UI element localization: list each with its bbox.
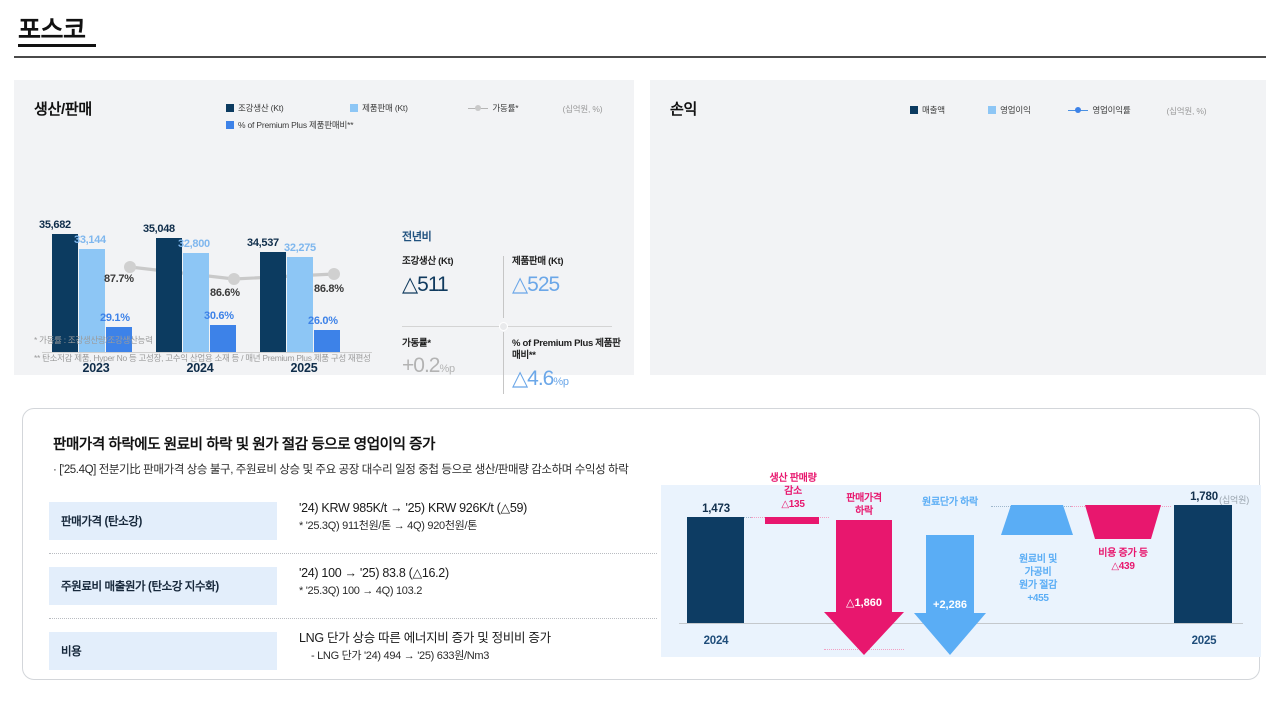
bottom-heading: 판매가격 하락에도 원료비 하락 및 원가 절감 등으로 영업이익 증가 [53,433,435,454]
profit-unit-note: (십억원, %) [1167,106,1207,116]
row-divider [49,618,657,619]
waterfall-caption-expense: 비용 증가 등 △439 [1077,547,1169,573]
production-unit-note: (십억원, %) [563,104,603,114]
production-footnote-2: ** 탄소저감 제품, Hyper No 등 고성장, 고수익 산업용 소재 등… [34,352,371,364]
bar-crude-steel-2024 [156,238,182,352]
operating-profit-waterfall-chart: (십억원) 1,473 2024 생산 판매량 감소 △135 판매가격 하락 … [661,485,1261,657]
row-main-text: LNG 단가 상승 따른 에너지비 증가 및 정비비 증가 [299,629,657,648]
row-divider [49,553,657,554]
caption-line: 판매가격 [821,492,907,505]
page-title: 포스코 [18,10,86,46]
stats-vertical-divider-top [503,256,504,318]
stat-premium-plus: % of Premium Plus 제품판매비** △4.6%p [512,338,624,391]
legend-item-utilization: 가동률* [468,102,560,114]
stat-product-sales: 제품판매 (Kt) △525 [512,256,612,297]
legend-item-operating-margin: 영업이익률 [1068,104,1164,116]
utilization-label-2023: 87.7% [104,273,134,285]
waterfall-down-arrow-price [824,520,904,655]
utilization-label-2024: 86.6% [210,287,240,299]
stat-value: △511 [402,272,502,297]
caption-line: 원료단가 하락 [897,496,1003,509]
legend-label: 조강생산 (Kt) [238,102,284,114]
bar-label-premium-plus-2025: 26.0% [308,315,338,327]
stat-label: 조강생산 (Kt) [402,256,502,268]
bar-label-product-sales-2024: 32,800 [178,238,210,250]
caption-value: +455 [999,592,1077,605]
waterfall-up-arrow-raw-material [914,535,986,655]
bottom-bullet-text: · ['25.4Q] 전분기比 판매가격 상승 불구, 주원료비 상승 및 주요… [53,461,628,477]
caption-line: 가공비 [999,566,1077,579]
profit-panel-title: 손익 [670,98,697,119]
bar-label-product-sales-2023: 33,144 [74,234,106,246]
stat-value-suffix: %p [553,376,568,388]
legend-item-product-sales: 제품판매 (Kt) [350,102,466,114]
legend-item-premium-plus: % of Premium Plus 제품판매비** [226,119,353,131]
bar-product-sales-2025 [287,257,313,352]
stats-vertical-divider-bottom [503,332,504,394]
waterfall-total-label-2025: 1,780 [1165,491,1243,503]
production-yoy-heading: 전년비 [402,228,622,244]
stat-value-suffix: %p [439,363,454,375]
legend-swatch-medium-blue-icon [226,121,234,129]
waterfall-bar-2025 [1174,505,1232,623]
bar-label-product-sales-2025: 32,275 [284,242,316,254]
stat-value-number: +0.2 [402,354,439,377]
bottom-detail-table: 판매가격 (탄소강) '24) KRW 985K/t → '25) KRW 92… [49,493,657,679]
bar-label-crude-steel-2023: 35,682 [39,219,71,231]
row-sub-text: - LNG 단가 '24) 494 → '25) 633원/Nm3 [311,648,657,665]
profit-legend: 매출액 영업이익 영업이익률 (십억원, %) [910,104,1206,117]
production-sales-panel: 생산/판매 조강생산 (Kt) 제품판매 (Kt) 가동률* (십억원, %) … [14,80,634,375]
stat-value-number: △4.6 [512,367,553,390]
production-panel-title: 생산/판매 [34,98,92,119]
row-sub-text: * '25.3Q) 911천원/톤 → 4Q) 920천원/톤 [299,518,657,535]
stat-crude-steel: 조강생산 (Kt) △511 [402,256,502,297]
legend-label: 제품판매 (Kt) [362,102,408,114]
legend-line-marker-blue-icon [1068,106,1088,114]
bar-premium-plus-2025 [314,330,340,352]
legend-label: 영업이익률 [1092,104,1130,116]
caption-line: 비용 증가 등 [1077,547,1169,560]
stat-label: 가동률* [402,338,502,350]
stat-utilization: 가동률* +0.2%p [402,338,502,378]
production-yoy-stats: 전년비 조강생산 (Kt) △511 제품판매 (Kt) △525 가동률* +… [402,228,622,386]
title-underline [18,44,96,47]
row-label-expenses: 비용 [49,632,277,670]
row-sub-text: * '25.3Q) 100 → 4Q) 103.2 [299,583,657,600]
legend-swatch-light-blue-icon [988,106,996,114]
stat-label: % of Premium Plus 제품판매비** [512,338,624,362]
bar-crude-steel-2025 [260,252,286,352]
legend-label: 매출액 [922,104,945,116]
caption-line: 하락 [821,505,907,518]
row-body: '24) KRW 985K/t → '25) KRW 926K/t (△59) … [299,493,657,541]
caption-line: 원료비 및 [999,553,1077,566]
stat-value: +0.2%p [402,354,502,378]
waterfall-total-label-2024: 1,473 [677,503,755,515]
waterfall-caption-raw-material: 원료단가 하락 [897,496,1003,509]
stats-divider-dot-icon [499,322,508,331]
stat-value: △4.6%p [512,366,624,391]
waterfall-caption-price: 판매가격 하락 [821,492,907,518]
row-body: LNG 단가 상승 따른 에너지비 증가 및 정비비 증가 - LNG 단가 '… [299,623,657,671]
row-main-text: '24) 100 → '25) 83.8 (△16.2) [299,564,657,583]
waterfall-bar-2024 [687,517,744,623]
waterfall-x-label-2025: 2025 [1165,635,1243,647]
utilization-label-2025: 86.8% [314,283,344,295]
caption-value: △439 [1077,560,1169,573]
legend-swatch-navy-icon [910,106,918,114]
production-legend: 조강생산 (Kt) 제품판매 (Kt) 가동률* (십억원, %) % of P… [226,102,602,131]
legend-swatch-navy-icon [226,104,234,112]
bar-label-premium-plus-2023: 29.1% [100,312,130,324]
legend-label: % of Premium Plus 제품판매비** [238,119,353,131]
caption-line: 생산 판매량 [753,472,833,485]
table-row: 판매가격 (탄소강) '24) KRW 985K/t → '25) KRW 92… [49,493,657,549]
legend-item-revenue: 매출액 [910,104,986,116]
row-main-text: '24) KRW 985K/t → '25) KRW 926K/t (△59) [299,499,657,518]
waterfall-down-block-expense [1085,505,1161,539]
production-group-2023: 35,682 33,144 29.1% [48,222,144,352]
table-row: 주원료비 매출원가 (탄소강 지수화) '24) 100 → '25) 83.8… [49,558,657,614]
legend-item-operating-profit: 영업이익 [988,104,1066,116]
waterfall-caption-cost-saving: 원료비 및 가공비 원가 절감 +455 [999,553,1077,605]
waterfall-value-price: △1,860 [821,596,907,609]
bottom-summary-box: 판매가격 하락에도 원료비 하락 및 원가 절감 등으로 영업이익 증가 · [… [22,408,1260,680]
legend-label: 가동률* [492,102,518,114]
waterfall-x-label-2024: 2024 [677,635,755,647]
stat-label: 제품판매 (Kt) [512,256,612,268]
table-row: 비용 LNG 단가 상승 따른 에너지비 증가 및 정비비 증가 - LNG 단… [49,623,657,679]
bar-product-sales-2024 [183,253,209,352]
bar-label-crude-steel-2025: 34,537 [247,237,279,249]
waterfall-value-raw-material: +2,286 [914,599,986,611]
bar-premium-plus-2024 [210,325,236,352]
profit-loss-panel: 손익 매출액 영업이익 영업이익률 (십억원, %) 2023 38,972 2… [650,80,1266,375]
row-body: '24) 100 → '25) 83.8 (△16.2) * '25.3Q) 1… [299,558,657,606]
header-divider [14,56,1266,58]
bar-label-premium-plus-2024: 30.6% [204,310,234,322]
row-label-selling-price: 판매가격 (탄소강) [49,502,277,540]
row-label-raw-material-cost: 주원료비 매출원가 (탄소강 지수화) [49,567,277,605]
bar-label-crude-steel-2024: 35,048 [143,223,175,235]
stat-value: △525 [512,272,612,297]
legend-item-crude-steel: 조강생산 (Kt) [226,102,348,114]
caption-line: 원가 절감 [999,579,1077,592]
legend-swatch-light-blue-icon [350,104,358,112]
legend-label: 영업이익 [1000,104,1030,116]
legend-line-marker-icon [468,104,488,112]
production-sales-chart: 35,682 33,144 29.1% 35,048 32,800 30.6% … [42,215,372,375]
waterfall-step-bar-volume [765,517,819,524]
waterfall-up-block-cost-saving [1001,505,1073,535]
production-footnote-1: * 가동률 : 조강생산량/조강생산능력 [34,334,153,346]
